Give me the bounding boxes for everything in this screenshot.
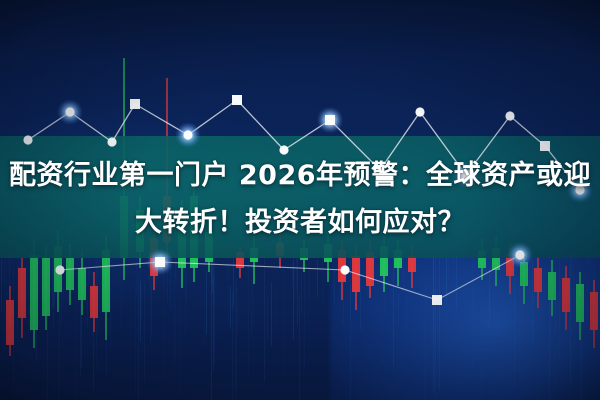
page-title: 配资行业第一门户 2026年预警：全球资产或迎 大转折！投资者如何应对？ [0, 152, 600, 246]
headline-line-1: 配资行业第一门户 2026年预警：全球资产或迎 [0, 152, 600, 199]
headline-line-2: 大转折！投资者如何应对？ [0, 199, 600, 246]
banner-image: 配资行业第一门户 2026年预警：全球资产或迎 大转折！投资者如何应对？ [0, 0, 600, 400]
